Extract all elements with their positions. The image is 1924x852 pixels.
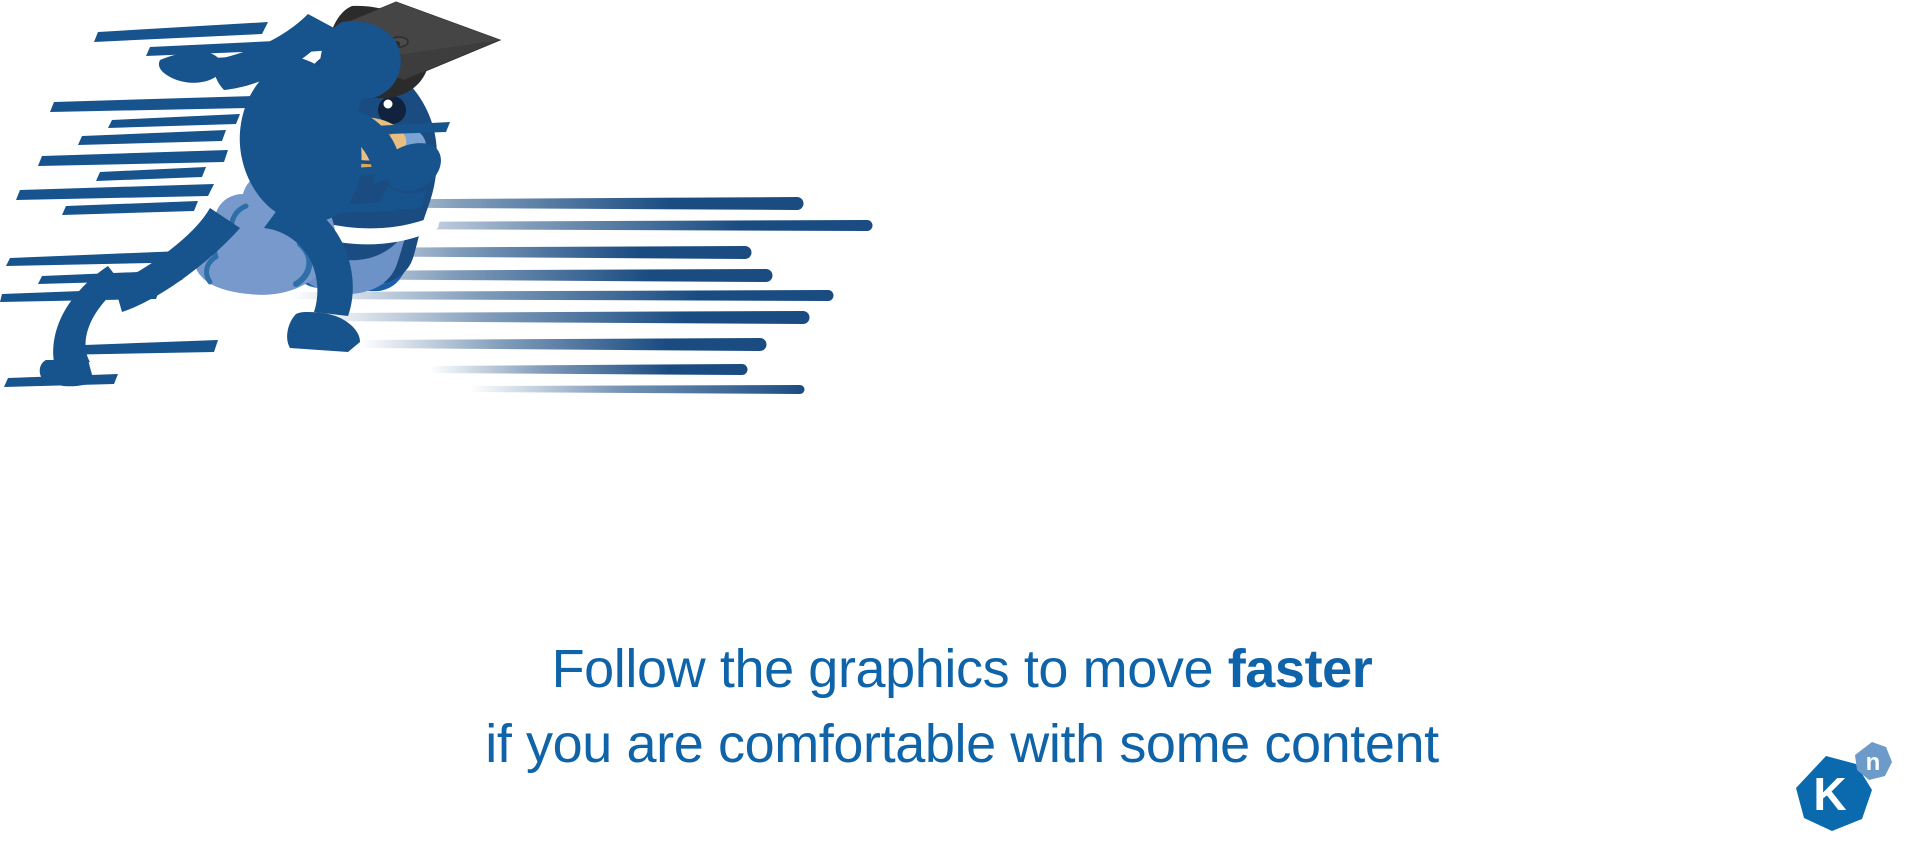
- logo-badge-letter: n: [1866, 749, 1881, 776]
- caption-line-1: Follow the graphics to move faster: [0, 632, 1924, 707]
- artwork-region: [0, 0, 1924, 560]
- sprinting-runner-silhouette-icon: [0, 0, 480, 400]
- caption-text: Follow the graphics to move faster if yo…: [0, 632, 1924, 782]
- slide-canvas: Follow the graphics to move faster if yo…: [0, 0, 1924, 852]
- logo-primary-letter: K: [1813, 768, 1846, 820]
- caption-line-1-prefix: Follow the graphics to move: [552, 639, 1228, 699]
- knative-logo-icon: K n: [1784, 736, 1896, 840]
- caption-emphasis-faster: faster: [1228, 639, 1373, 699]
- caption-line-2: if you are comfortable with some content: [0, 707, 1924, 782]
